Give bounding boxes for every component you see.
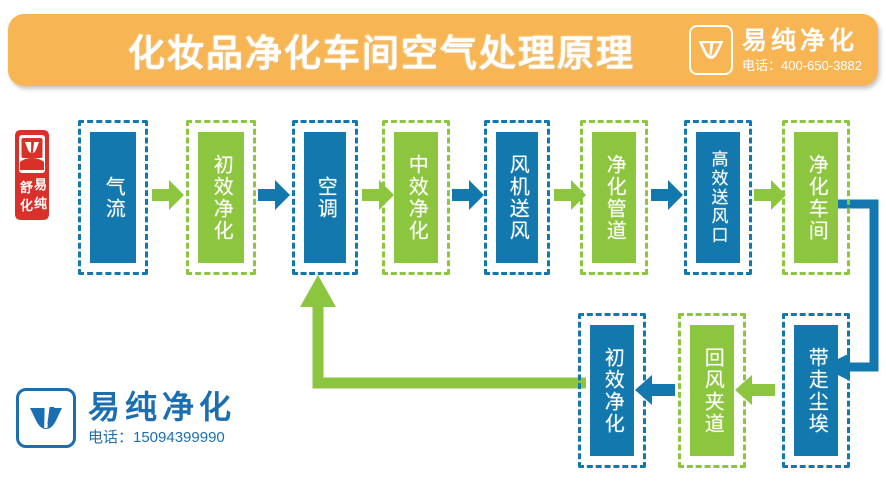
flow-node-fan-supply[interactable]: 风机送风	[484, 120, 550, 275]
footer-logo: 易纯净化 电话：15094399990	[16, 388, 236, 448]
yichun-w-mark-icon	[16, 388, 76, 448]
connector-return-to-ac	[296, 275, 586, 393]
arrow-1-green	[152, 180, 184, 210]
node-label: 回风夹道	[701, 347, 723, 435]
svg-text:纯: 纯	[34, 196, 47, 211]
node-chip: 初效净化	[590, 325, 634, 456]
node-chip: 中效净化	[394, 132, 438, 263]
node-label: 高效送风口	[708, 150, 727, 245]
node-label: 空调	[314, 176, 336, 220]
yichun-w-mark-icon	[689, 25, 733, 75]
node-chip: 净化管道	[592, 132, 636, 263]
flow-node-clean-duct[interactable]: 净化管道	[580, 120, 648, 275]
flow-node-return-corridor[interactable]: 回风夹道	[678, 313, 746, 468]
footer-brand-phone: 电话：15094399990	[88, 430, 236, 445]
footer-logo-text: 易纯净化 电话：15094399990	[88, 391, 236, 445]
page-title: 化妆品净化车间空气处理原理	[128, 23, 635, 77]
diagram-canvas: 化妆品净化车间空气处理原理 易纯净化 电话：400-650-3882	[0, 0, 886, 488]
arrow-4-blue	[452, 180, 484, 210]
brand-phone: 电话：400-650-3882	[742, 59, 862, 72]
flow-node-primary-filter[interactable]: 初效净化	[186, 120, 256, 275]
header-logo-text: 易纯净化 电话：400-650-3882	[742, 29, 862, 72]
flow-node-air-conditioner[interactable]: 空调	[292, 120, 358, 275]
node-chip: 净化车间	[794, 132, 838, 263]
header-banner: 化妆品净化车间空气处理原理 易纯净化 电话：400-650-3882	[8, 14, 878, 86]
footer-brand-name: 易纯净化	[88, 391, 236, 423]
node-chip: 回风夹道	[690, 325, 734, 456]
svg-text:舒: 舒	[20, 180, 33, 195]
flow-node-clean-room[interactable]: 净化车间	[782, 120, 850, 275]
node-chip: 空调	[304, 132, 346, 263]
node-label: 中效净化	[405, 154, 427, 242]
node-label: 初效净化	[210, 154, 232, 242]
node-label: 气流	[102, 176, 124, 220]
node-chip: 初效净化	[198, 132, 244, 263]
red-company-seal-icon: 舒 易 化 纯	[9, 126, 55, 224]
node-chip: 气流	[90, 132, 136, 263]
header-logo: 易纯净化 电话：400-650-3882	[689, 25, 862, 75]
flow-node-return-primary-filter[interactable]: 初效净化	[578, 313, 646, 468]
node-chip: 带走尘埃	[794, 325, 838, 456]
node-label: 风机送风	[506, 154, 528, 242]
node-chip: 高效送风口	[696, 132, 740, 263]
flow-node-hepa-outlet[interactable]: 高效送风口	[684, 120, 752, 275]
flow-node-dust-removal[interactable]: 带走尘埃	[782, 313, 850, 468]
node-label: 初效净化	[601, 347, 623, 435]
svg-text:易: 易	[34, 177, 47, 192]
brand-name: 易纯净化	[742, 29, 858, 54]
node-label: 净化管道	[603, 154, 625, 242]
svg-text:化: 化	[20, 198, 33, 213]
node-label: 净化车间	[805, 154, 827, 242]
node-label: 带走尘埃	[805, 347, 827, 435]
flow-node-medium-filter[interactable]: 中效净化	[382, 120, 450, 275]
node-chip: 风机送风	[496, 132, 538, 263]
flow-node-qiliu[interactable]: 气流	[78, 120, 148, 275]
arrow-2-blue	[258, 180, 290, 210]
arrow-6-blue	[651, 180, 683, 210]
